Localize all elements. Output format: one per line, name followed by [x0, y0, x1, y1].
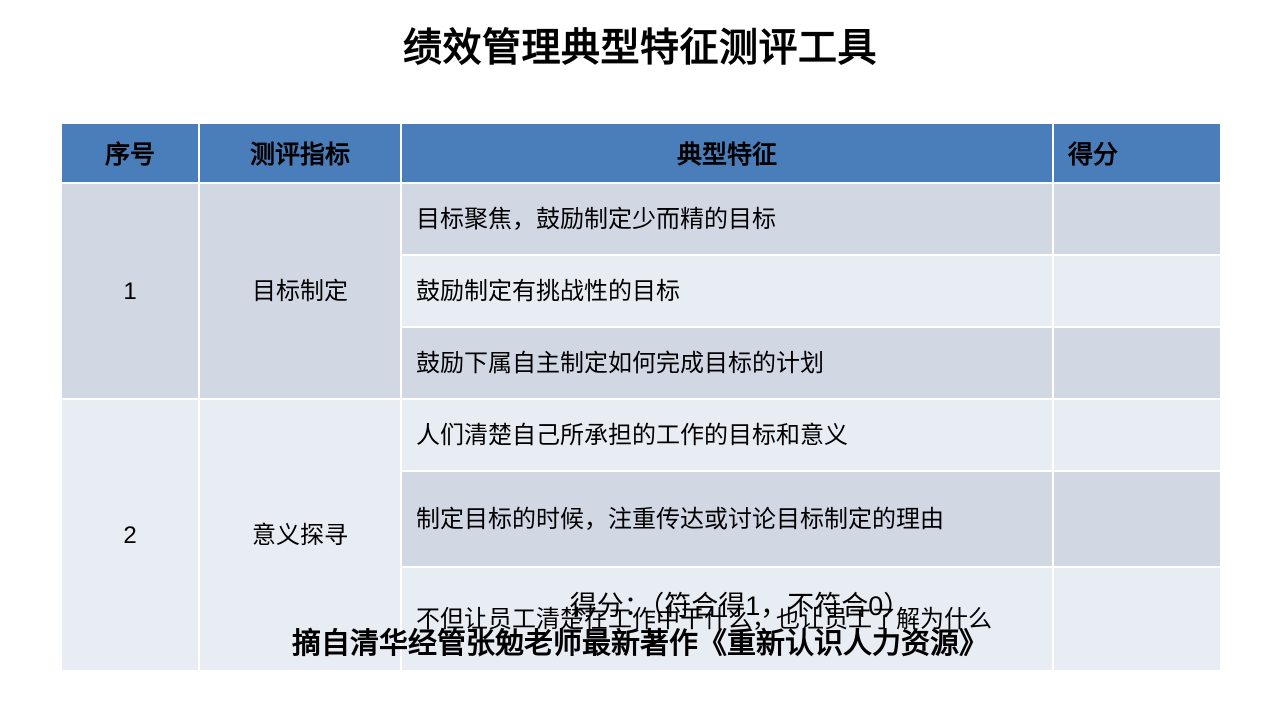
table-header: 序号 测评指标 典型特征 得分 — [62, 124, 1220, 184]
column-header-no: 序号 — [62, 124, 200, 184]
footer: 得分：（符合得1，不符合0） 摘自清华经管张勉老师最新著作《重新认识人力资源》 — [0, 588, 1280, 664]
column-header-feature: 典型特征 — [402, 124, 1054, 184]
score-cell[interactable] — [1054, 184, 1220, 256]
table-header-row: 序号 测评指标 典型特征 得分 — [62, 124, 1220, 184]
score-cell[interactable] — [1054, 472, 1220, 568]
column-header-score: 得分 — [1054, 124, 1220, 184]
column-header-metric: 测评指标 — [200, 124, 402, 184]
source-attribution: 摘自清华经管张勉老师最新著作《重新认识人力资源》 — [0, 624, 1280, 664]
score-cell[interactable] — [1054, 328, 1220, 400]
score-cell[interactable] — [1054, 400, 1220, 472]
feature-cell: 人们清楚自己所承担的工作的目标和意义 — [402, 400, 1054, 472]
feature-cell: 制定目标的时候，注重传达或讨论目标制定的理由 — [402, 472, 1054, 568]
score-legend: 得分：（符合得1，不符合0） — [0, 588, 1280, 624]
feature-cell: 目标聚焦，鼓励制定少而精的目标 — [402, 184, 1054, 256]
table-row: 1 目标制定 目标聚焦，鼓励制定少而精的目标 — [62, 184, 1220, 256]
row-metric-1: 目标制定 — [200, 184, 402, 400]
table-row: 2 意义探寻 人们清楚自己所承担的工作的目标和意义 — [62, 400, 1220, 472]
feature-cell: 鼓励下属自主制定如何完成目标的计划 — [402, 328, 1054, 400]
row-number-1: 1 — [62, 184, 200, 400]
page-title: 绩效管理典型特征测评工具 — [0, 26, 1280, 72]
feature-cell: 鼓励制定有挑战性的目标 — [402, 256, 1054, 328]
score-cell[interactable] — [1054, 256, 1220, 328]
